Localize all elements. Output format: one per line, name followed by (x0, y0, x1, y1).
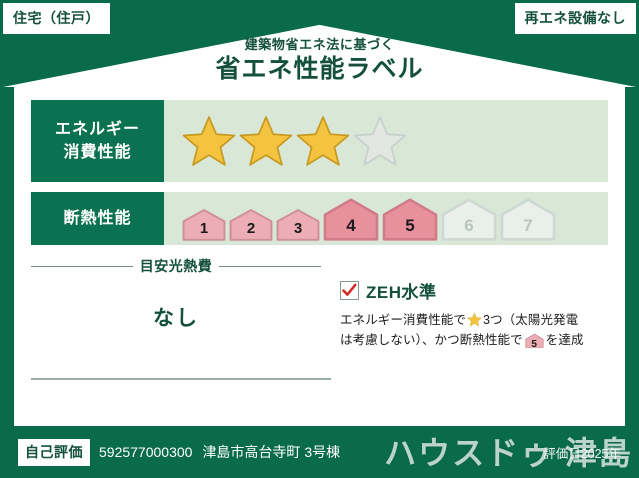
zeh-title: ZEH水準 (366, 278, 437, 303)
utility-cost-heading-row: 目安光熱費 (31, 256, 321, 276)
self-evaluation-badge: 自己評価 (18, 439, 90, 466)
property-address: 津島市高台寺町 3号棟 (202, 442, 340, 462)
insulation-performance-body: 1234567 (164, 192, 608, 245)
star-filled-icon (239, 114, 293, 168)
star-rating (182, 114, 407, 168)
insulation-level-5: 5 (382, 197, 438, 241)
insulation-level-4: 4 (323, 197, 379, 241)
insulation-level-6: 6 (441, 197, 497, 241)
house-badge-icon (229, 208, 273, 241)
zeh-desc-part-3: を達成 (546, 333, 584, 347)
house-badge-icon (441, 197, 497, 241)
star-filled-icon (296, 114, 350, 168)
zeh-checkbox[interactable] (340, 281, 359, 300)
tag-building-type: 住宅（住戸） (3, 3, 110, 34)
zeh-desc-part-2: は考慮しない）、かつ断熱性能で (340, 333, 523, 347)
energy-performance-label: 住宅（住戸） 再エネ設備なし 建築物省エネ法に基づく 省エネ性能ラベル エネルギ… (0, 0, 639, 478)
house-badge-icon (500, 197, 556, 241)
tag-renewable-equipment: 再エネ設備なし (515, 3, 637, 34)
house-badge-icon (323, 197, 379, 241)
insulation-performance-row: 断熱性能 1234567 (31, 192, 608, 245)
insulation-heading-label: 断熱性能 (63, 207, 131, 230)
insulation-level-7: 7 (500, 197, 556, 241)
energy-performance-row: エネルギー 消費性能 (31, 100, 608, 182)
label-card: エネルギー 消費性能 断熱性能 1234567 目安光熱費 なし (14, 86, 625, 426)
insulation-level-3: 3 (276, 208, 320, 241)
inline-insulation-badge: 5 (525, 333, 544, 354)
house-badge-icon (182, 208, 226, 241)
utility-cost-heading: 目安光熱費 (140, 256, 213, 276)
check-icon (342, 283, 357, 298)
inline-house-icon (525, 333, 544, 348)
energy-performance-heading: エネルギー 消費性能 (31, 100, 164, 182)
evaluation-date: 評価日2025年 (543, 443, 621, 462)
house-badge-icon (276, 208, 320, 241)
star-filled-icon (182, 114, 236, 168)
insulation-level-2: 2 (229, 208, 273, 241)
star-empty-icon (353, 114, 407, 168)
insulation-level-1: 1 (182, 208, 226, 241)
utility-cost-block: 目安光熱費 なし (31, 256, 321, 332)
zeh-title-row: ZEH水準 (340, 278, 611, 303)
energy-heading-line-2: 消費性能 (63, 141, 131, 164)
house-badge-icon (382, 197, 438, 241)
heading-rule-left (31, 266, 133, 267)
label-id-number: 592577000300 (99, 444, 192, 460)
insulation-performance-heading: 断熱性能 (31, 192, 164, 245)
zeh-standard-block: ZEH水準 エネルギー消費性能で 3つ（太陽光発電 は考慮しない）、かつ断熱性能… (340, 278, 611, 355)
title-subtitle: 建築物省エネ法に基づく (0, 38, 639, 52)
energy-performance-body (164, 100, 608, 182)
insulation-level-scale: 1234567 (182, 197, 556, 241)
utility-cost-divider (31, 378, 331, 380)
zeh-description: エネルギー消費性能で 3つ（太陽光発電 は考慮しない）、かつ断熱性能で 5 を達… (340, 310, 611, 355)
label-title-block: 建築物省エネ法に基づく 省エネ性能ラベル (0, 38, 639, 86)
utility-cost-value: なし (31, 302, 321, 332)
zeh-desc-star-count: 3つ（太陽光発電 (483, 313, 578, 327)
zeh-desc-part-1: エネルギー消費性能で (340, 313, 466, 327)
energy-heading-line-1: エネルギー (55, 118, 140, 141)
label-footer: 自己評価 592577000300 津島市高台寺町 3号棟 評価日2025年 (0, 426, 639, 478)
heading-rule-right (219, 266, 321, 267)
inline-star-icon (467, 312, 482, 327)
page-title: 省エネ性能ラベル (0, 54, 639, 85)
